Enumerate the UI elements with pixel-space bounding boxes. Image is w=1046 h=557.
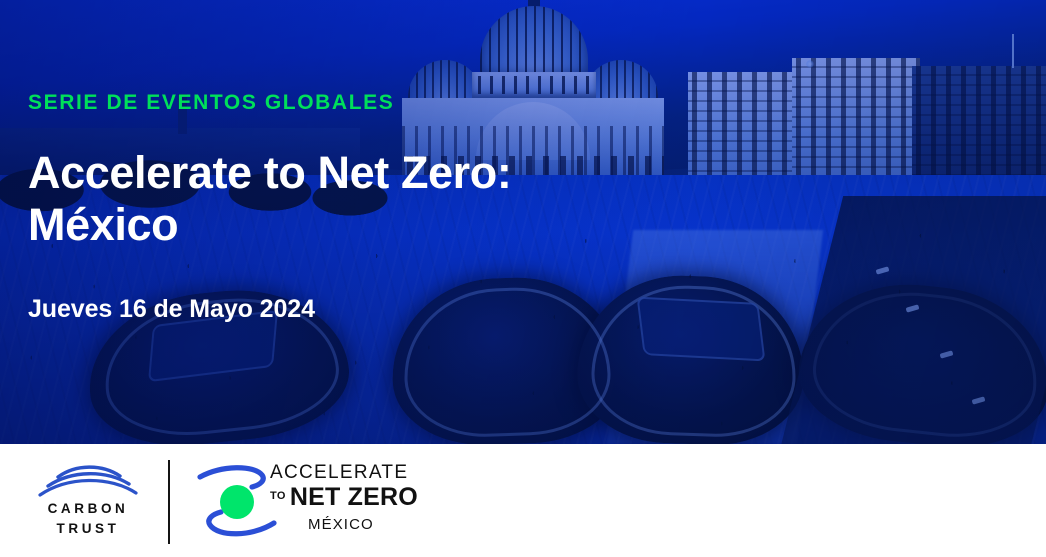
accelerate-wordmark: ACCELERATE TO NET ZERO MÉXICO [270, 463, 450, 533]
carbon-trust-line-1: CARBON [36, 499, 140, 519]
net-zero-row: TO NET ZERO [270, 485, 450, 510]
logo-divider [168, 460, 170, 544]
country-label: MÉXICO [308, 516, 450, 533]
page-title: Accelerate to Net Zero: México [28, 147, 668, 251]
footer-logo-bar: CARBON TRUST ACCELERATE TO NET ZERO [0, 444, 1046, 557]
page-title-line-1: Accelerate to Net Zero: [28, 147, 511, 198]
carbon-trust-wordmark: CARBON TRUST [36, 499, 140, 538]
event-date: Jueves 16 de Mayo 2024 [28, 295, 668, 324]
orbit-swoosh-icon [196, 461, 278, 543]
carbon-trust-arcs-icon [36, 465, 140, 497]
accelerate-label: ACCELERATE [270, 463, 450, 483]
green-circle-icon [220, 485, 254, 519]
to-label: TO [270, 491, 286, 502]
hero-section: SERIE DE EVENTOS GLOBALES Accelerate to … [0, 0, 1046, 444]
net-zero-label: NET ZERO [290, 485, 418, 510]
page-title-line-2: México [28, 199, 668, 251]
hero-copy: SERIE DE EVENTOS GLOBALES Accelerate to … [28, 92, 668, 324]
event-series-label: SERIE DE EVENTOS GLOBALES [28, 92, 668, 113]
carbon-trust-line-2: TRUST [36, 519, 140, 539]
event-banner: SERIE DE EVENTOS GLOBALES Accelerate to … [0, 0, 1046, 557]
accelerate-to-net-zero-logo[interactable]: ACCELERATE TO NET ZERO MÉXICO [196, 457, 446, 547]
logo-row: CARBON TRUST ACCELERATE TO NET ZERO [28, 452, 446, 552]
carbon-trust-logo[interactable]: CARBON TRUST [36, 459, 140, 545]
